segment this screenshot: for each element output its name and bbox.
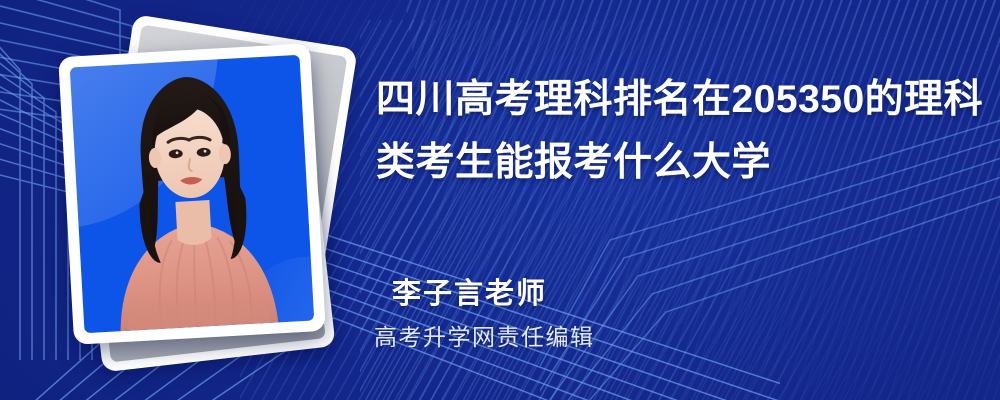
page-title-line-1: 四川高考理科排名在205350的理科 [376,68,976,131]
editor-avatar [58,43,326,345]
editor-photo-stack [58,28,358,358]
portrait-illustration [70,55,314,333]
author-name: 李子言老师 [392,270,547,312]
editor-photo-image [70,55,314,333]
page-title: 四川高考理科排名在205350的理科 类考生能报考什么大学 [376,68,976,194]
author-role: 高考升学网责任编辑 [374,318,595,352]
page-title-line-2: 类考生能报考什么大学 [376,131,976,194]
article-banner: 四川高考理科排名在205350的理科 类考生能报考什么大学 李子言老师 高考升学… [0,0,1000,400]
